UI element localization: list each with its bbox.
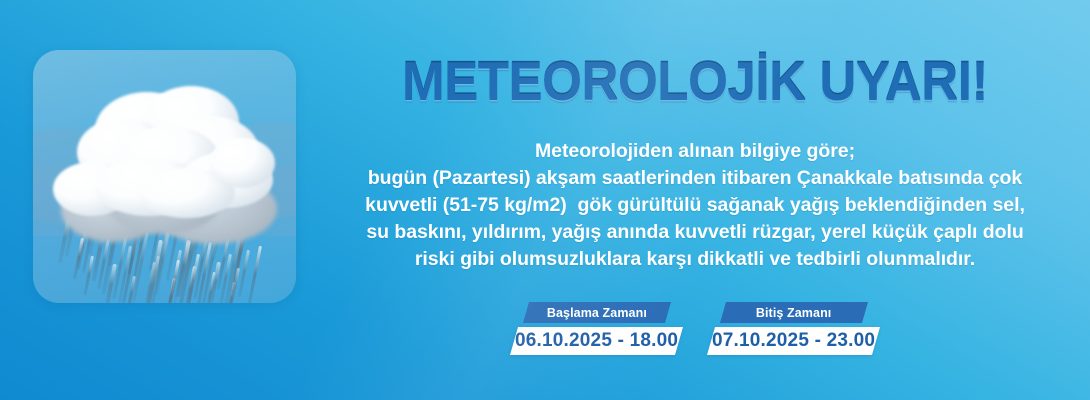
banner-body-line: bugün (Pazartesi) akşam saatlerinden iti…: [300, 165, 1090, 192]
banner-body-text: Meteorolojiden alınan bilgiye göre;bugün…: [300, 138, 1090, 273]
banner-body-line: riski gibi olumsuzluklara karşı dikkatli…: [300, 246, 1090, 273]
cloud-puff: [209, 138, 275, 188]
banner-body-line: Meteorolojiden alınan bilgiye göre;: [300, 138, 1090, 165]
end-time-badge-value-box: 07.10.2025 - 23.00: [707, 327, 880, 355]
weather-warning-banner: METEOROLOJİK UYARI! Meteorolojiden alına…: [0, 0, 1090, 400]
banner-content: METEOROLOJİK UYARI! Meteorolojiden alına…: [300, 0, 1090, 400]
end-time-badge: Bitiş Zamanı 07.10.2025 - 23.00: [711, 302, 876, 355]
rain-drop: [73, 238, 84, 280]
time-badges: Başlama Zamanı 06.10.2025 - 18.00 Bitiş …: [300, 302, 1090, 355]
start-time-badge-label: Başlama Zamanı: [546, 306, 646, 320]
start-time-badge: Başlama Zamanı 06.10.2025 - 18.00: [514, 302, 679, 355]
banner-body-line: kuvvetli (51-75 kg/m2) gök gürültülü sağ…: [300, 192, 1090, 219]
start-time-badge-header: Başlama Zamanı: [522, 302, 670, 323]
rain-drop: [247, 246, 261, 303]
rain-cloud-icon-card: [33, 50, 296, 303]
banner-title: METEOROLOJİK UYARI!: [328, 52, 1063, 110]
end-time-badge-header: Bitiş Zamanı: [719, 302, 867, 323]
end-time-value: 07.10.2025 - 23.00: [712, 330, 875, 352]
banner-body-line: su baskını, yıldırım, yağış anında kuvve…: [300, 219, 1090, 246]
start-time-value: 06.10.2025 - 18.00: [515, 330, 678, 352]
end-time-badge-label: Bitiş Zamanı: [756, 306, 832, 320]
start-time-badge-value-box: 06.10.2025 - 18.00: [510, 327, 683, 355]
